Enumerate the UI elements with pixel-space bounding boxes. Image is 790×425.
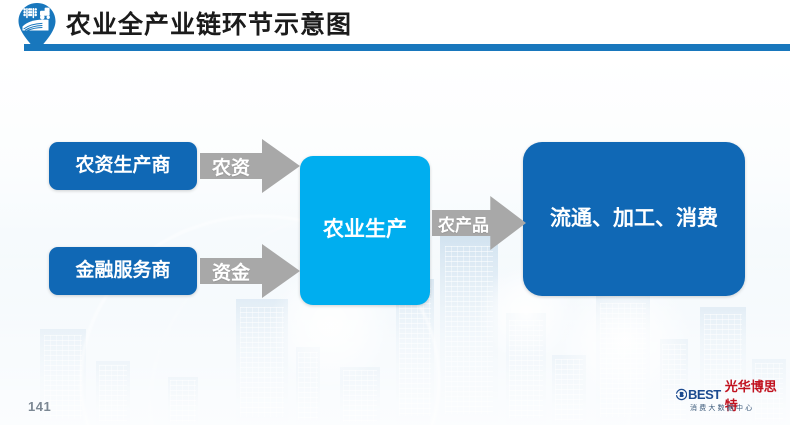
node-agricultural-production[interactable]: 农业生产 <box>300 156 430 305</box>
corporate-logo: BEST 光华博思特 消费大数据中心 <box>676 386 780 414</box>
arrow-agricultural-inputs: 农资 <box>200 139 300 193</box>
slide-header: 农业全产业链环节示意图 <box>0 0 790 56</box>
page-number: 141 <box>28 399 51 414</box>
node-agricultural-input-supplier[interactable]: 农资生产商 <box>49 142 197 190</box>
logo-mark-text: BEST <box>688 387 721 402</box>
arrow-label: 农产品 <box>432 211 526 236</box>
arrow-label: 农资 <box>200 153 300 180</box>
logo-subtitle: 消费大数据中心 <box>690 403 754 413</box>
node-distribution-processing-consumption[interactable]: 流通、加工、消费 <box>523 142 745 296</box>
page-title: 农业全产业链环节示意图 <box>66 5 352 41</box>
node-label: 农业生产 <box>323 218 407 242</box>
node-label: 流通、加工、消费 <box>550 207 718 231</box>
node-financial-service-provider[interactable]: 金融服务商 <box>49 247 197 295</box>
arrow-label: 资金 <box>200 258 300 285</box>
node-label: 金融服务商 <box>75 260 170 282</box>
arrow-agricultural-products: 农产品 <box>432 196 526 250</box>
arrow-capital: 资金 <box>200 244 300 298</box>
header-divider-cap <box>0 44 24 51</box>
node-label: 农资生产商 <box>75 155 170 177</box>
slide-canvas: 农业全产业链环节示意图 农资生产商 金融服务商 农业生产 流通、加工、消费 农资… <box>0 0 790 425</box>
header-divider <box>22 44 790 51</box>
logo-b-mark-icon <box>676 388 687 401</box>
